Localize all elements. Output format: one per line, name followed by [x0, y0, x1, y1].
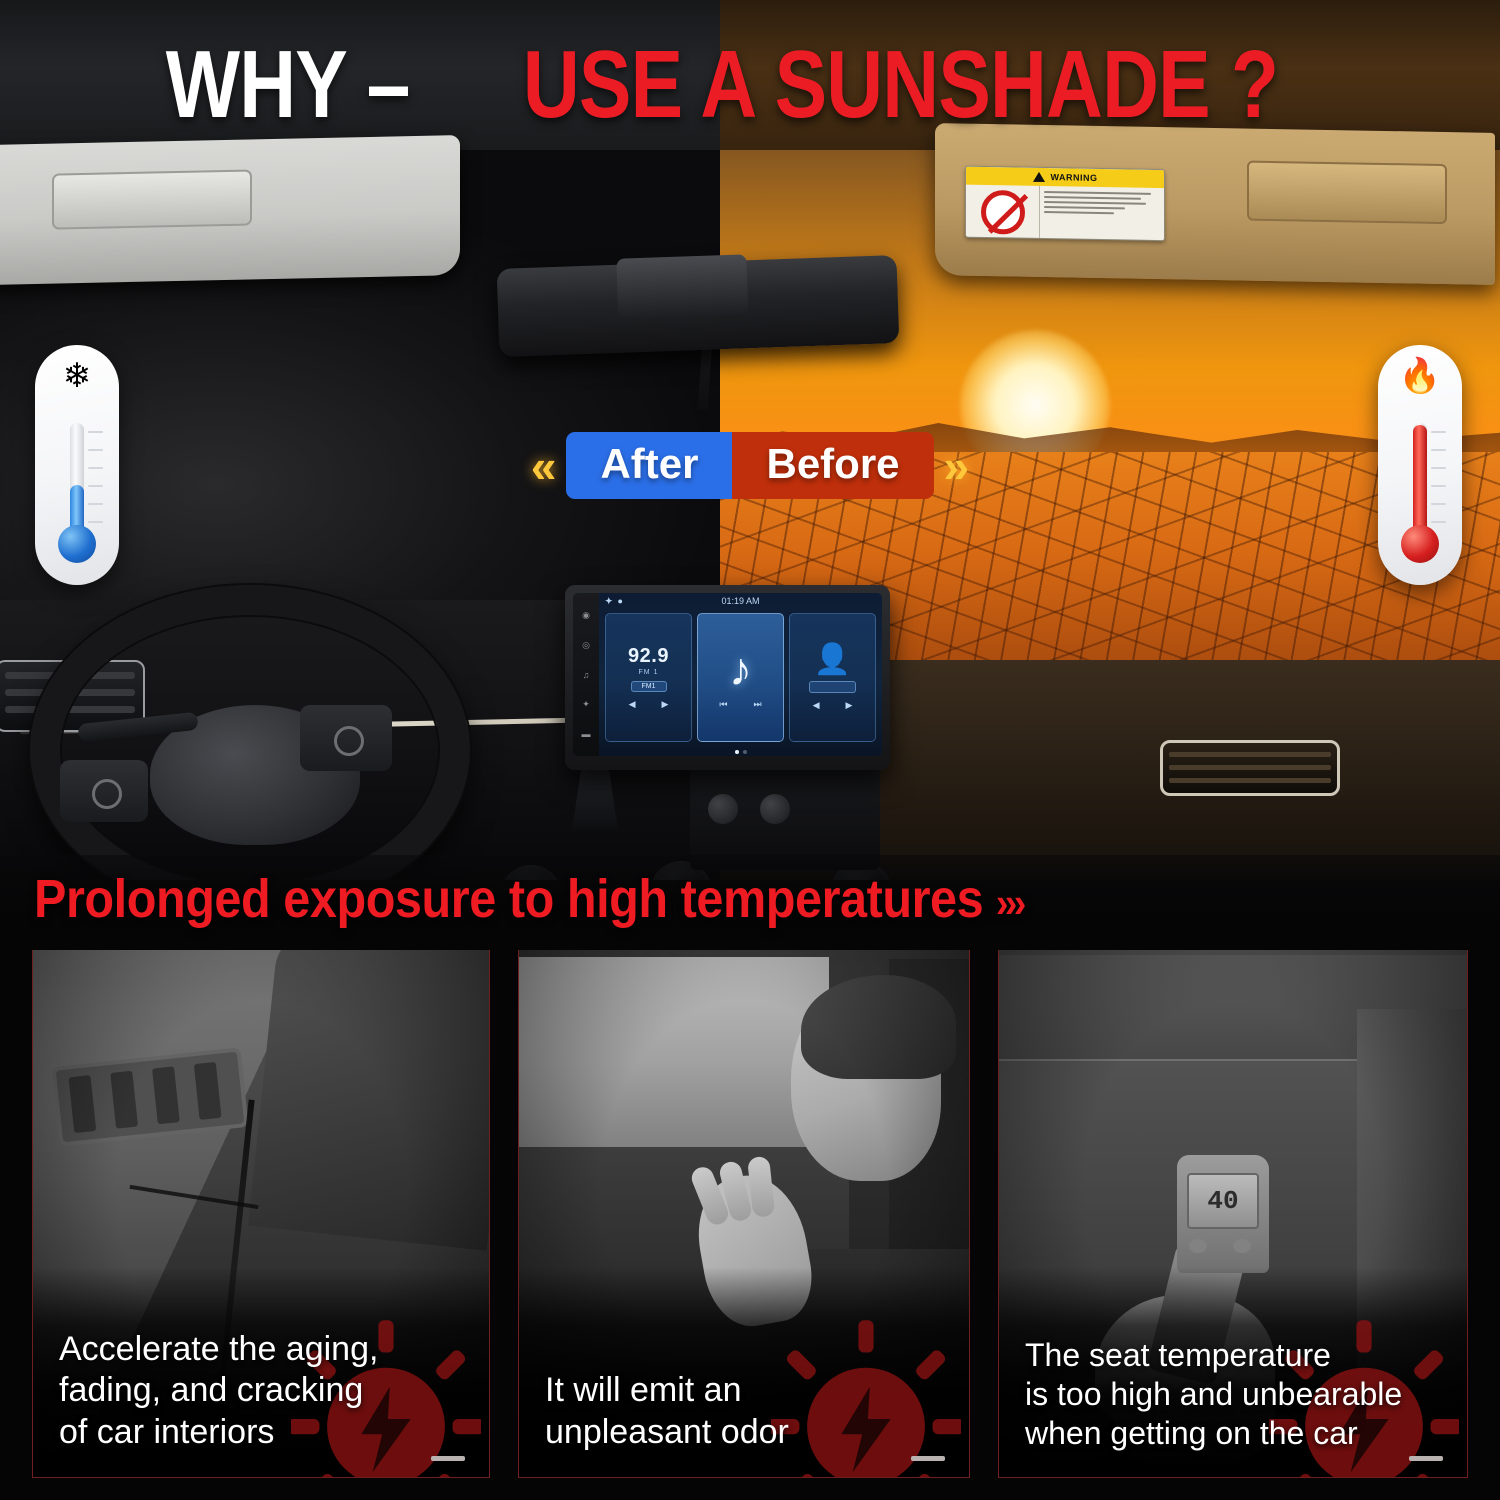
center-console	[690, 760, 880, 870]
caption-line: when getting on the car	[1025, 1414, 1451, 1453]
music-note-icon: ♪	[729, 646, 752, 692]
radio-seek-controls[interactable]: ◀ ▶	[629, 699, 669, 710]
caption-line: is too high and unbearable	[1025, 1375, 1451, 1414]
seat-prev-icon[interactable]: ◀	[813, 700, 820, 711]
prohibition-symbol	[981, 190, 1025, 235]
infotainment-cards: 92.9 FM 1 FM1 ◀ ▶ ♪ ⏮ ⏭	[599, 609, 882, 746]
panel-caption: It will emit an unpleasant odor	[545, 1370, 953, 1453]
rearview-mirror	[497, 255, 900, 357]
infotainment-clock: 01:19 AM	[721, 596, 759, 606]
radio-prev-icon[interactable]: ◀	[629, 699, 636, 710]
radio-band: FM 1	[639, 669, 659, 676]
dash-vent-right	[1160, 740, 1340, 796]
chevron-right-icon: »	[934, 443, 980, 489]
page-title: WHY – USE A SUNSHADE ?	[0, 30, 1500, 140]
media-prev-icon[interactable]: ⏮	[719, 699, 727, 710]
before-badge[interactable]: Before	[732, 432, 933, 499]
caption-line: fading, and cracking	[59, 1370, 473, 1411]
infotainment-head-unit[interactable]: ◉ ◎ ♫ ✦ ▬ ✦ ● 01:19 AM	[565, 585, 890, 770]
mirror-sensor-pod	[616, 254, 748, 319]
panel-caption: Accelerate the aging, fading, and cracki…	[59, 1329, 473, 1453]
page-dot-active[interactable]	[735, 750, 739, 754]
steering-control-left	[60, 760, 148, 822]
visor-mirror-lid-left	[52, 169, 252, 229]
section-heading: Prolonged exposure to high temperatures›…	[34, 868, 1023, 930]
radio-frequency: 92.9	[628, 646, 669, 666]
music-card[interactable]: ♪ ⏮ ⏭	[697, 613, 784, 742]
no-child-seat-icon	[966, 185, 1040, 240]
flame-icon: 🔥	[1378, 359, 1462, 393]
visor-mirror-lid-right	[1247, 161, 1447, 224]
caption-line: Accelerate the aging,	[59, 1329, 473, 1370]
panel-interior-aging: Accelerate the aging, fading, and cracki…	[32, 948, 490, 1478]
warning-triangle-icon	[1033, 172, 1045, 182]
warning-label-text-lines	[1040, 186, 1164, 241]
radio-card[interactable]: 92.9 FM 1 FM1 ◀ ▶	[605, 613, 692, 742]
panel-seat-temperature: 40	[998, 948, 1468, 1478]
chevron-left-icon: «	[521, 443, 567, 489]
before-after-scene: WARNING	[0, 0, 1500, 880]
caption-line: of car interiors	[59, 1412, 473, 1453]
radio-preset[interactable]: FM1	[631, 681, 667, 692]
panel-caption: The seat temperature is too high and unb…	[1025, 1336, 1451, 1453]
title-red-part: USE A SUNSHADE ?	[523, 30, 1278, 140]
benefit-panels: Accelerate the aging, fading, and cracki…	[0, 948, 1500, 1500]
thermometer-bulb-hot	[1401, 525, 1439, 563]
seat-level-bar[interactable]	[809, 681, 857, 693]
warning-label-title: WARNING	[1051, 172, 1098, 183]
menu-icon[interactable]: ▬	[582, 729, 591, 739]
page-indicator-dots[interactable]	[599, 750, 882, 754]
media-controls[interactable]: ⏮ ⏭	[719, 699, 761, 710]
sun-visor-right: WARNING	[935, 123, 1495, 285]
after-badge[interactable]: After	[566, 432, 732, 499]
sun-visor-left	[0, 135, 460, 285]
infographic-canvas: WARNING	[0, 0, 1500, 1500]
infotainment-screen[interactable]: ◉ ◎ ♫ ✦ ▬ ✦ ● 01:19 AM	[573, 593, 882, 756]
infotainment-status-bar: ✦ ● 01:19 AM	[599, 593, 882, 609]
volume-icon[interactable]: ♫	[583, 670, 590, 680]
caption-line: It will emit an	[545, 1370, 953, 1411]
seat-person-icon: 👤	[814, 645, 851, 675]
caption-line: The seat temperature	[1025, 1336, 1451, 1375]
warning-label-body	[966, 185, 1164, 241]
title-white-part: WHY –	[165, 30, 409, 140]
steering-control-right	[300, 705, 392, 771]
caption-underline	[911, 1456, 945, 1461]
before-after-toggle[interactable]: « After Before »	[0, 432, 1500, 499]
thermometer-bulb-cold	[58, 525, 96, 563]
caption-underline	[431, 1456, 465, 1461]
bluetooth-icon: ✦	[605, 596, 613, 607]
seat-adjust-controls[interactable]: ◀ ▶	[813, 700, 853, 711]
media-next-icon[interactable]: ⏭	[754, 699, 762, 710]
status-icons: ✦ ●	[605, 596, 623, 607]
airbag-warning-label: WARNING	[965, 166, 1165, 241]
caption-underline	[1409, 1456, 1443, 1461]
infotainment-side-buttons[interactable]: ◉ ◎ ♫ ✦ ▬	[573, 593, 599, 756]
chevron-right-triple-icon: ›››	[983, 879, 1023, 926]
page-dot[interactable]	[743, 750, 747, 754]
signal-icon: ●	[618, 596, 623, 607]
caption-line: unpleasant odor	[545, 1412, 953, 1453]
settings-icon[interactable]: ✦	[582, 699, 590, 710]
radio-next-icon[interactable]: ▶	[662, 699, 669, 710]
seat-card[interactable]: 👤 ◀ ▶	[789, 613, 876, 742]
section-heading-text: Prolonged exposure to high temperatures	[34, 869, 983, 929]
panel-unpleasant-odor: It will emit an unpleasant odor	[518, 948, 970, 1478]
seat-next-icon[interactable]: ▶	[846, 700, 853, 711]
power-icon[interactable]: ◎	[582, 640, 590, 651]
home-icon[interactable]: ◉	[582, 610, 590, 621]
snowflake-icon: ❄	[35, 359, 119, 393]
